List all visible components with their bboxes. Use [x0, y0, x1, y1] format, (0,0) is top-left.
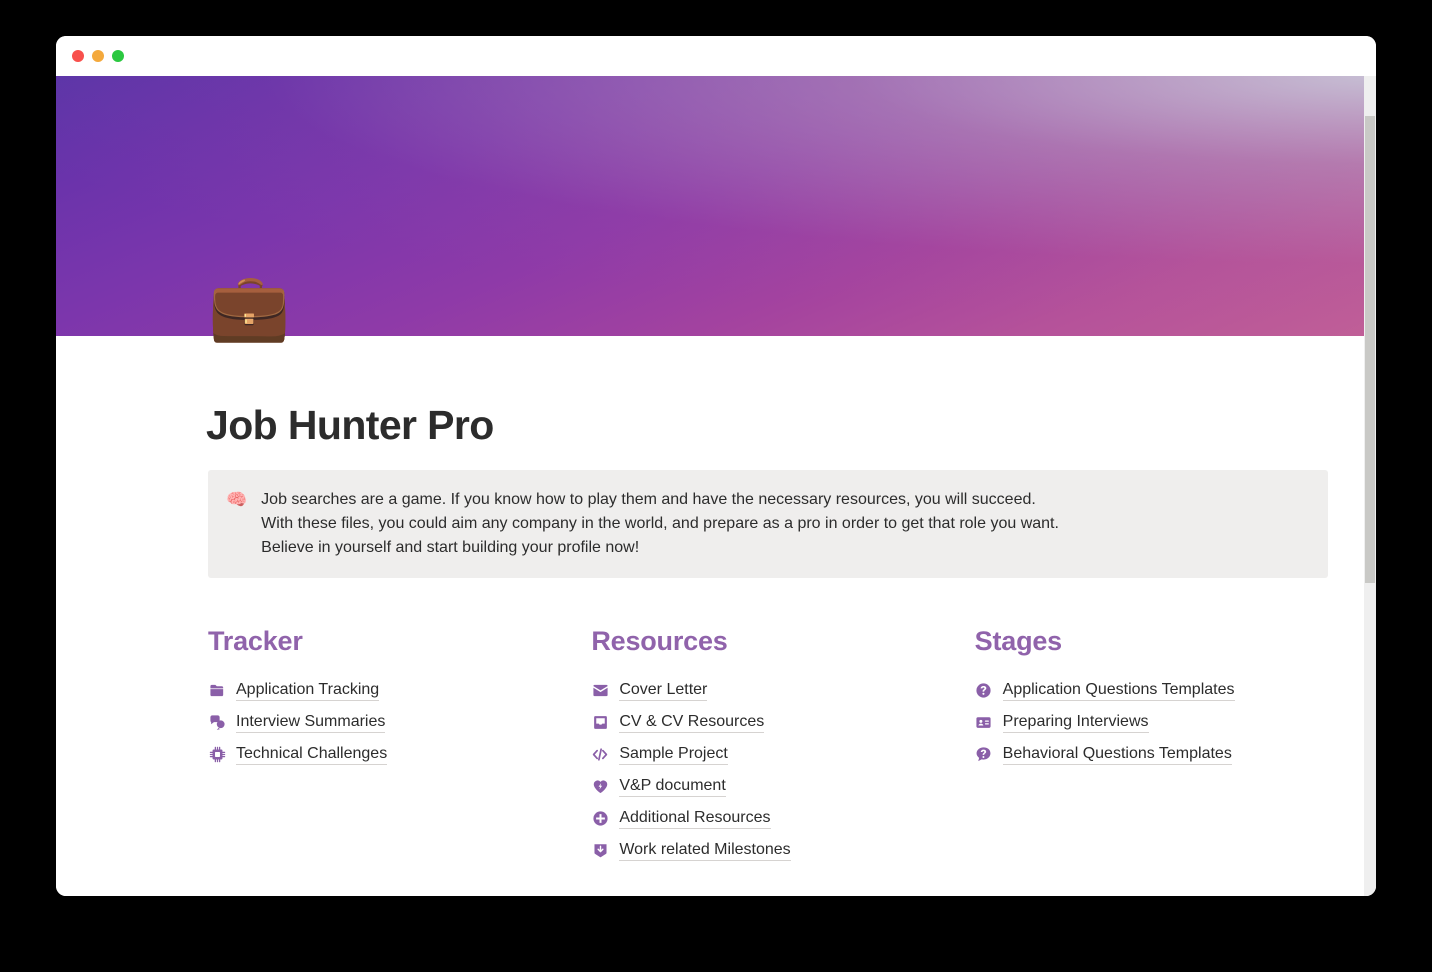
column-title-tracker: Tracker: [208, 626, 591, 657]
link-sample-project[interactable]: Sample Project: [591, 738, 974, 770]
briefcase-emoji: 💼: [208, 273, 290, 339]
link-label: Work related Milestones: [619, 839, 790, 861]
link-preparing-interviews[interactable]: Preparing Interviews: [975, 706, 1358, 738]
link-cv-resources[interactable]: CV & CV Resources: [591, 706, 974, 738]
browser-window: 💼 Job Hunter Pro 🧠 Job searches are a ga…: [56, 36, 1376, 896]
link-columns: Tracker Application Tracking Interview S…: [208, 626, 1358, 866]
link-label: Sample Project: [619, 743, 728, 765]
link-label: Behavioral Questions Templates: [1003, 743, 1232, 765]
column-tracker: Tracker Application Tracking Interview S…: [208, 626, 591, 866]
link-label: Application Tracking: [236, 679, 379, 701]
id-card-icon: [975, 713, 993, 731]
link-label: Cover Letter: [619, 679, 707, 701]
envelope-icon: [591, 681, 609, 699]
vertical-scrollbar-track[interactable]: [1364, 76, 1376, 896]
column-resources: Resources Cover Letter CV & CV Resources: [591, 626, 974, 866]
cpu-chip-icon: [208, 745, 226, 763]
link-behavioral-questions-templates[interactable]: Behavioral Questions Templates: [975, 738, 1358, 770]
inbox-tray-icon: [591, 713, 609, 731]
link-cover-letter[interactable]: Cover Letter: [591, 674, 974, 706]
callout-text: Job searches are a game. If you know how…: [261, 488, 1059, 560]
brain-emoji: 🧠: [226, 488, 247, 560]
column-title-resources: Resources: [591, 626, 974, 657]
link-technical-challenges[interactable]: Technical Challenges: [208, 738, 591, 770]
chat-bubbles-icon: [208, 713, 226, 731]
heart-bolt-icon: [591, 777, 609, 795]
page-title: Job Hunter Pro: [206, 402, 494, 449]
page-content: 💼 Job Hunter Pro 🧠 Job searches are a ga…: [56, 336, 1376, 896]
link-application-tracking[interactable]: Application Tracking: [208, 674, 591, 706]
link-label: V&P document: [619, 775, 725, 797]
code-brackets-icon: [591, 745, 609, 763]
folder-icon: [208, 681, 226, 699]
window-titlebar: [56, 36, 1376, 76]
minimize-window-button[interactable]: [92, 50, 104, 62]
close-window-button[interactable]: [72, 50, 84, 62]
vertical-scrollbar-thumb[interactable]: [1365, 116, 1375, 583]
maximize-window-button[interactable]: [112, 50, 124, 62]
callout-block: 🧠 Job searches are a game. If you know h…: [208, 470, 1328, 578]
column-title-stages: Stages: [975, 626, 1358, 657]
callout-line-2: With these files, you could aim any comp…: [261, 512, 1059, 536]
question-bubble-icon: [975, 745, 993, 763]
link-additional-resources[interactable]: Additional Resources: [591, 802, 974, 834]
question-circle-icon: [975, 681, 993, 699]
link-interview-summaries[interactable]: Interview Summaries: [208, 706, 591, 738]
column-stages: Stages Application Questions Templates P…: [975, 626, 1358, 866]
link-label: Additional Resources: [619, 807, 770, 829]
plus-circle-icon: [591, 809, 609, 827]
link-label: Application Questions Templates: [1003, 679, 1235, 701]
callout-line-3: Believe in yourself and start building y…: [261, 536, 1059, 560]
link-vp-document[interactable]: V&P document: [591, 770, 974, 802]
link-label: Preparing Interviews: [1003, 711, 1149, 733]
download-badge-icon: [591, 841, 609, 859]
link-work-milestones[interactable]: Work related Milestones: [591, 834, 974, 866]
link-label: CV & CV Resources: [619, 711, 764, 733]
link-label: Interview Summaries: [236, 711, 385, 733]
link-label: Technical Challenges: [236, 743, 387, 765]
link-application-questions-templates[interactable]: Application Questions Templates: [975, 674, 1358, 706]
callout-line-1: Job searches are a game. If you know how…: [261, 488, 1059, 512]
